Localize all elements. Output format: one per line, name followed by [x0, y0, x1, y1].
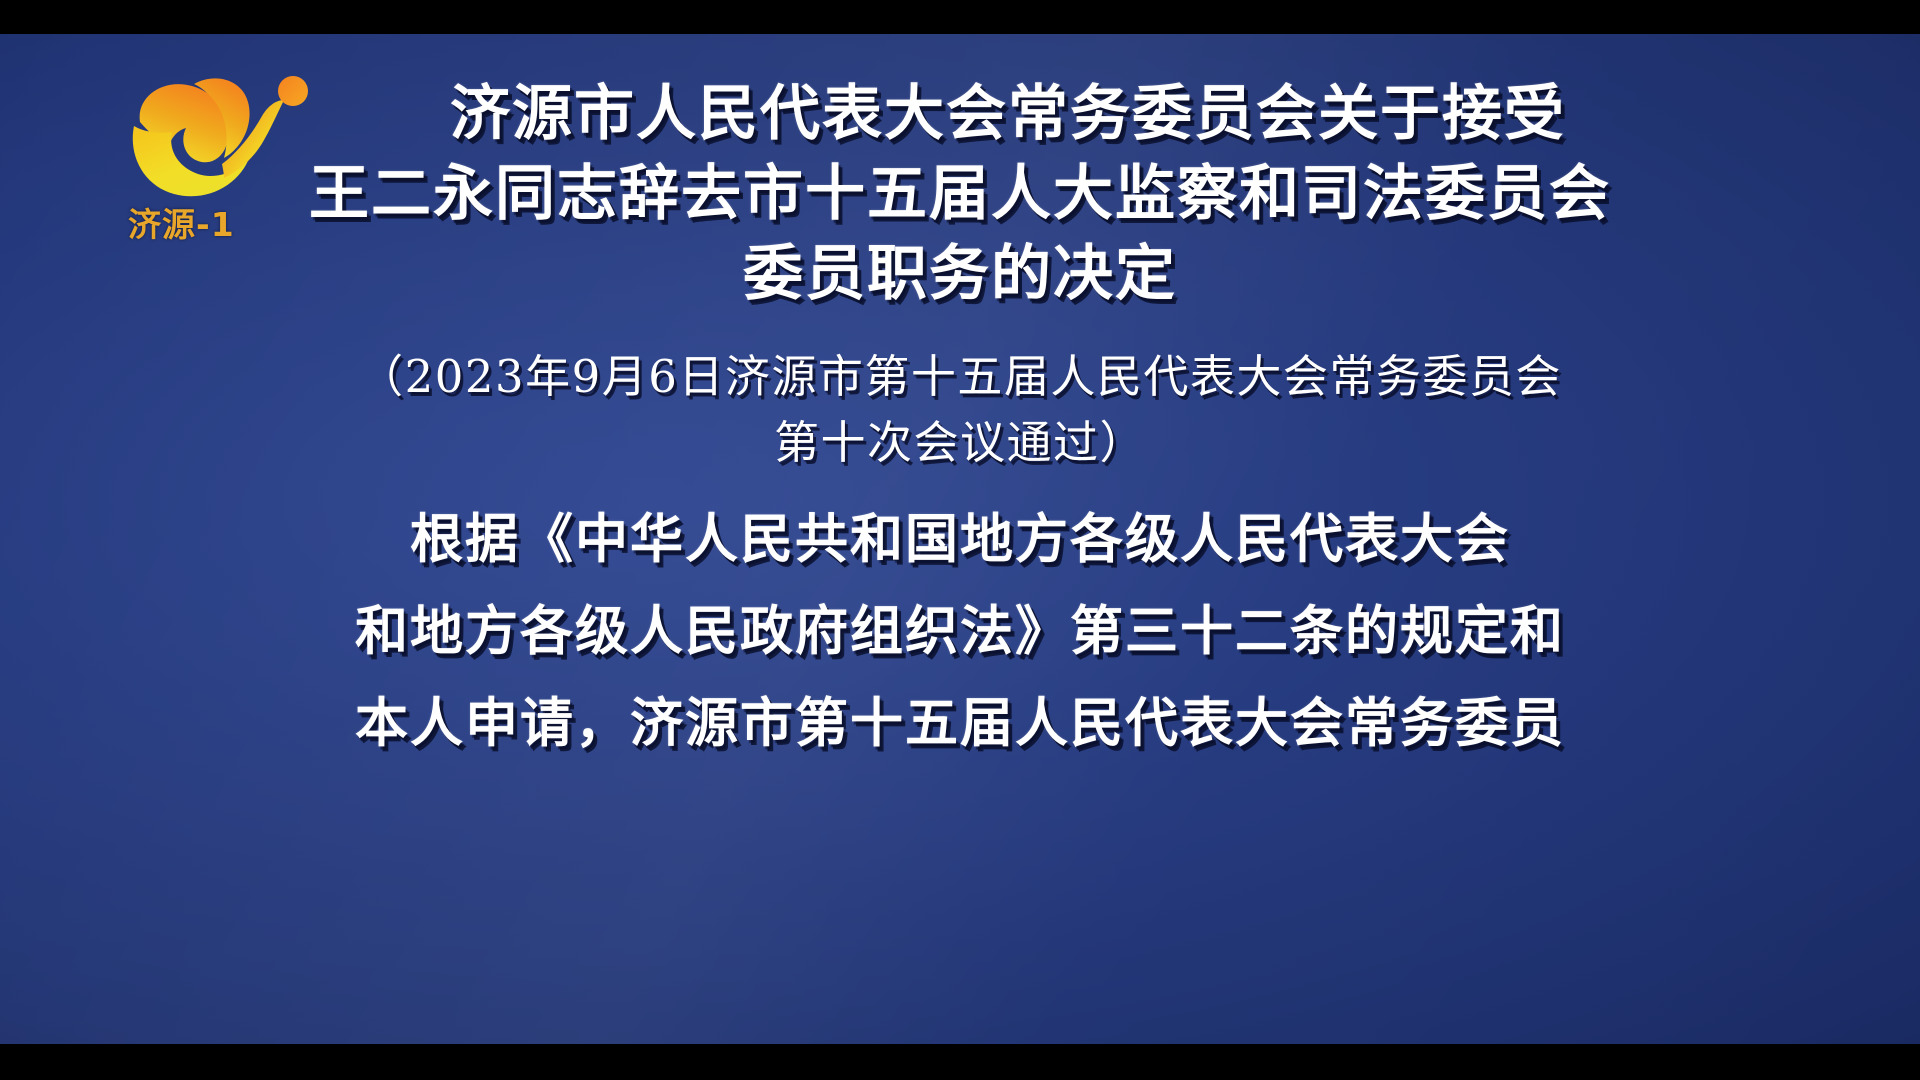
title-line-1: 济源市人民代表大会常务委员会关于接受: [150, 74, 1770, 154]
title-line-3: 委员职务的决定: [150, 234, 1770, 314]
decision-body: 根据《中华人民共和国地方各级人民代表大会 和地方各级人民政府组织法》第三十二条的…: [150, 494, 1770, 770]
title-line-2: 王二永同志辞去市十五届人大监察和司法委员会: [150, 154, 1770, 234]
slide-stage: 济源-1 济源市人民代表大会常务委员会关于接受 王二永同志辞去市十五届人大监察和…: [0, 34, 1920, 1044]
dateline-line-1: （2023年9月6日济源市第十五届人民代表大会常务委员会: [150, 344, 1770, 410]
body-line-2: 和地方各级人民政府组织法》第三十二条的规定和: [150, 586, 1770, 678]
broadcast-screen: 济源-1 济源市人民代表大会常务委员会关于接受 王二永同志辞去市十五届人大监察和…: [0, 0, 1920, 1080]
slide-content: 济源市人民代表大会常务委员会关于接受 王二永同志辞去市十五届人大监察和司法委员会…: [0, 34, 1920, 1044]
decision-title: 济源市人民代表大会常务委员会关于接受 王二永同志辞去市十五届人大监察和司法委员会…: [150, 74, 1770, 314]
letterbox-top: [0, 0, 1920, 34]
body-line-3: 本人申请，济源市第十五届人民代表大会常务委员: [150, 678, 1770, 770]
body-line-1: 根据《中华人民共和国地方各级人民代表大会: [150, 494, 1770, 586]
decision-dateline: （2023年9月6日济源市第十五届人民代表大会常务委员会 第十次会议通过）: [150, 344, 1770, 476]
dateline-line-2: 第十次会议通过）: [150, 410, 1770, 476]
letterbox-bottom: [0, 1044, 1920, 1080]
